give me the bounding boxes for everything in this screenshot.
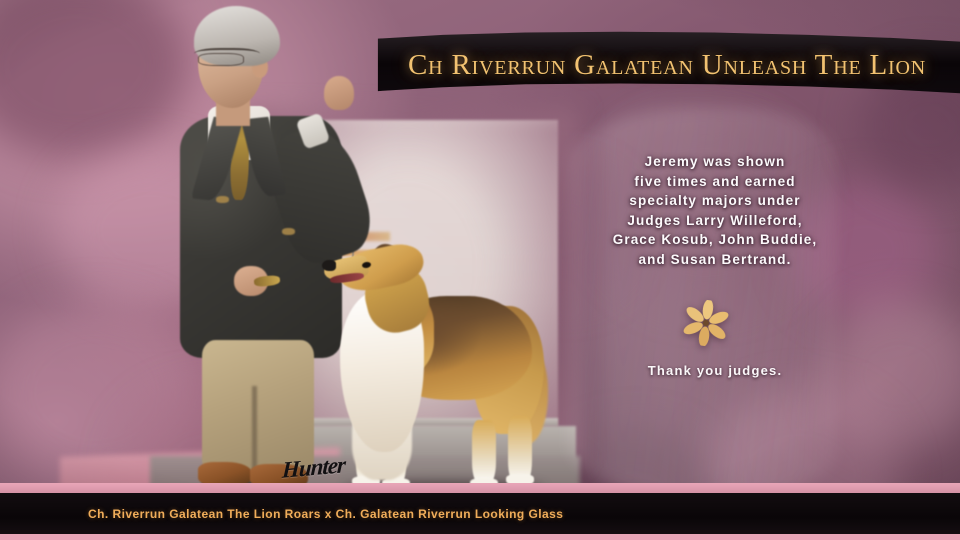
thank-you-text: Thank you judges.: [590, 363, 840, 378]
title-banner: Ch Riverrun Galatean Unleash The Lion: [372, 28, 960, 104]
copy-line: and Susan Bertrand.: [590, 250, 840, 270]
page-title: Ch Riverrun Galatean Unleash The Lion: [372, 27, 960, 103]
flower-ornament-icon: [680, 297, 732, 349]
advertisement-page: Hunter Ch Riverrun Galatean Unleash The …: [0, 0, 960, 540]
footer-bar: Ch. Riverrun Galatean The Lion Roars x C…: [0, 493, 960, 534]
copy-line: Grace Kosub, John Buddie,: [590, 230, 840, 250]
copy-line: Jeremy was shown: [590, 152, 840, 172]
pedigree-caption: Ch. Riverrun Galatean The Lion Roars x C…: [88, 507, 563, 521]
accent-strip-top: [0, 483, 960, 493]
copy-line: specialty majors under: [590, 191, 840, 211]
achievement-text-block: Jeremy was shown five times and earned s…: [590, 152, 840, 269]
copy-line: Judges Larry Willeford,: [590, 211, 840, 231]
copy-line: five times and earned: [590, 172, 840, 192]
accent-strip-bottom: [0, 534, 960, 540]
